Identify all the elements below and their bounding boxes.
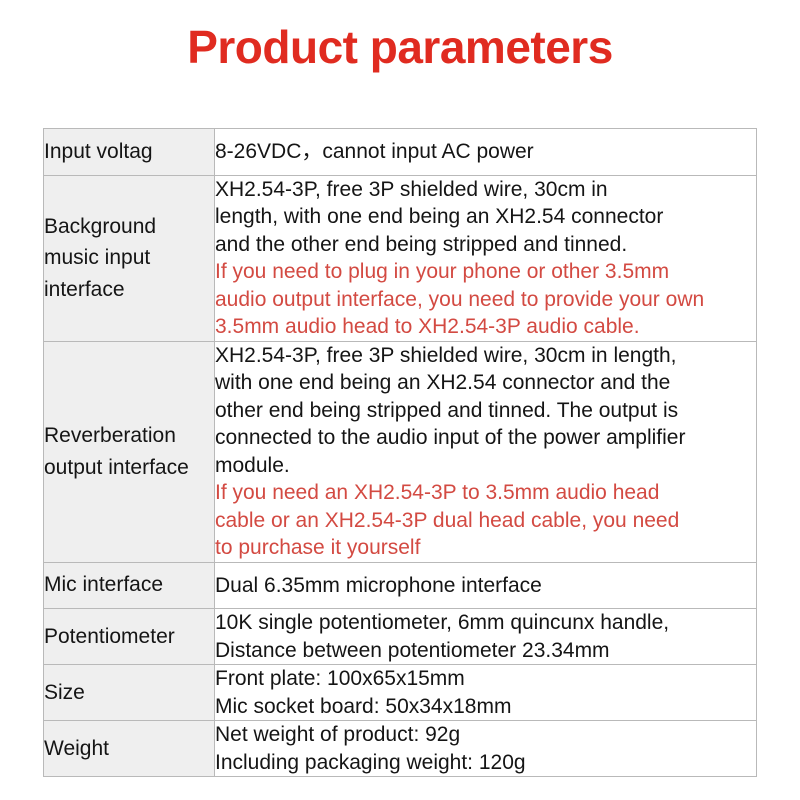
value-line: length, with one end being an XH2.54 con… [215,203,756,231]
value-line-note: audio output interface, you need to prov… [215,286,756,314]
value-line: connected to the audio input of the powe… [215,424,756,452]
table-row: Reverberation output interface XH2.54-3P… [44,341,757,562]
value-line: XH2.54-3P, free 3P shielded wire, 30cm i… [215,342,756,370]
value-line: other end being stripped and tinned. The… [215,397,756,425]
value-line-note: If you need an XH2.54-3P to 3.5mm audio … [215,479,756,507]
spec-value-size: Front plate: 100x65x15mm Mic socket boar… [215,665,757,721]
spec-label-input-voltage: Input voltag [44,129,215,176]
value-line: Including packaging weight: 120g [215,749,756,777]
spec-label-background-music-input-interface: Background music input interface [44,175,215,341]
spec-label-mic-interface: Mic interface [44,562,215,609]
value-line-note: to purchase it yourself [215,534,756,562]
value-line: Distance between potentiometer 23.34mm [215,637,756,665]
table-row: Weight Net weight of product: 92g Includ… [44,721,757,777]
value-line: 8-26VDC，cannot input AC power [215,138,756,166]
product-parameters-page: Product parameters Input voltag 8-26VDC，… [0,0,800,800]
spec-value-weight: Net weight of product: 92g Including pac… [215,721,757,777]
spec-value-background-music-input-interface: XH2.54-3P, free 3P shielded wire, 30cm i… [215,175,757,341]
spec-value-reverberation-output-interface: XH2.54-3P, free 3P shielded wire, 30cm i… [215,341,757,562]
specifications-table: Input voltag 8-26VDC，cannot input AC pow… [43,128,757,777]
table-row: Size Front plate: 100x65x15mm Mic socket… [44,665,757,721]
value-line: and the other end being stripped and tin… [215,231,756,259]
value-line: 10K single potentiometer, 6mm quincunx h… [215,609,756,637]
spec-value-mic-interface: Dual 6.35mm microphone interface [215,562,757,609]
spec-value-potentiometer: 10K single potentiometer, 6mm quincunx h… [215,609,757,665]
table-row: Background music input interface XH2.54-… [44,175,757,341]
table-row: Input voltag 8-26VDC，cannot input AC pow… [44,129,757,176]
value-line-note: If you need to plug in your phone or oth… [215,258,756,286]
value-line-note: cable or an XH2.54-3P dual head cable, y… [215,507,756,535]
value-line: Front plate: 100x65x15mm [215,665,756,693]
spec-label-size: Size [44,665,215,721]
spec-value-input-voltage: 8-26VDC，cannot input AC power [215,129,757,176]
value-line: Dual 6.35mm microphone interface [215,572,756,600]
page-title: Product parameters [0,22,800,73]
table-row: Potentiometer 10K single potentiometer, … [44,609,757,665]
value-line: module. [215,452,756,480]
table-row: Mic interface Dual 6.35mm microphone int… [44,562,757,609]
spec-label-reverberation-output-interface: Reverberation output interface [44,341,215,562]
value-line: Net weight of product: 92g [215,721,756,749]
value-line: Mic socket board: 50x34x18mm [215,693,756,721]
spec-label-weight: Weight [44,721,215,777]
value-line: with one end being an XH2.54 connector a… [215,369,756,397]
value-line: XH2.54-3P, free 3P shielded wire, 30cm i… [215,176,756,204]
value-line-note: 3.5mm audio head to XH2.54-3P audio cabl… [215,313,756,341]
spec-label-potentiometer: Potentiometer [44,609,215,665]
